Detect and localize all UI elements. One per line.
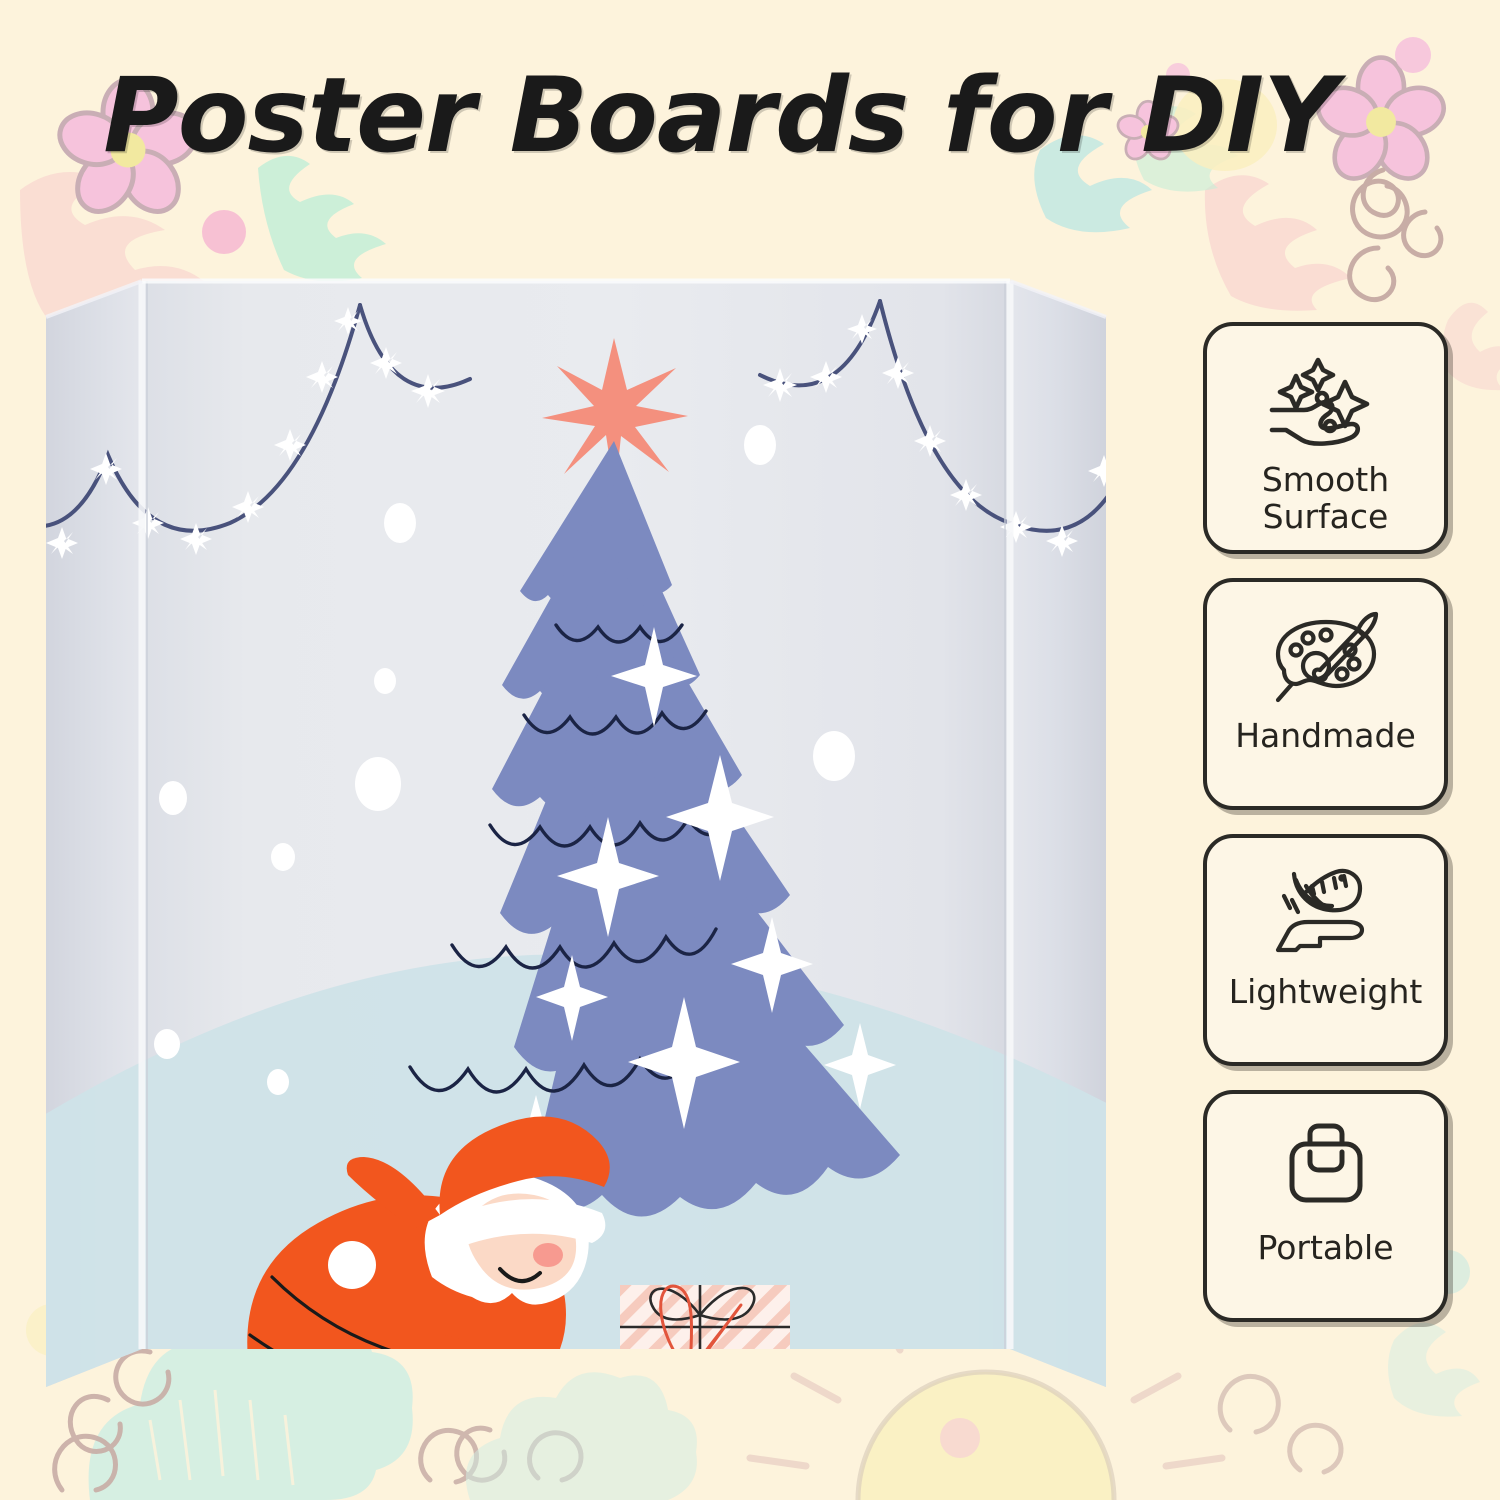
page-root: Poster Boards for DIY: [0, 0, 1500, 1500]
palette-brush-icon: [1266, 608, 1386, 708]
santa-nose: [533, 1243, 563, 1267]
page-title: Poster Boards for DIY: [0, 62, 1440, 170]
santa-mitten: [519, 1403, 614, 1415]
page-title-wrap: Poster Boards for DIY: [0, 62, 1440, 170]
sparkle-hand-icon: [1266, 352, 1386, 452]
santa-cuff: [480, 1402, 548, 1415]
badge-portable[interactable]: Portable: [1203, 1090, 1448, 1322]
badge-smooth-surface[interactable]: Smooth Surface: [1203, 322, 1448, 554]
badge-label: Portable: [1257, 1230, 1393, 1267]
doodle-loop-bottom-center: [421, 1428, 581, 1482]
badge-label: Handmade: [1235, 718, 1416, 755]
doodle-scribble-bottom-right: [1388, 1323, 1480, 1417]
doodle-scribble-pink-mid: [1205, 175, 1351, 310]
striped-gift-box: [620, 1285, 790, 1405]
doodle-loop-topright2: [1350, 248, 1394, 300]
santa-hat-pompom: [328, 1241, 376, 1289]
badge-handmade[interactable]: Handmade: [1203, 578, 1448, 810]
doodle-dot-4: [940, 1418, 980, 1458]
badge-label: Smooth Surface: [1262, 462, 1389, 536]
feature-badge-list: Smooth Surface: [1203, 322, 1448, 1322]
badge-lightweight[interactable]: Lightweight: [1203, 834, 1448, 1066]
feather-hand-icon: [1266, 864, 1386, 964]
product-image: [0, 255, 1170, 1415]
doodle-loop-bottom-right: [1220, 1376, 1341, 1472]
doodle-loop-topright: [1353, 170, 1441, 256]
briefcase-icon: [1266, 1120, 1386, 1220]
badge-label: Lightweight: [1229, 974, 1423, 1011]
doodle-dot-1: [202, 210, 246, 254]
doodle-scribble-midright: [1443, 303, 1500, 390]
